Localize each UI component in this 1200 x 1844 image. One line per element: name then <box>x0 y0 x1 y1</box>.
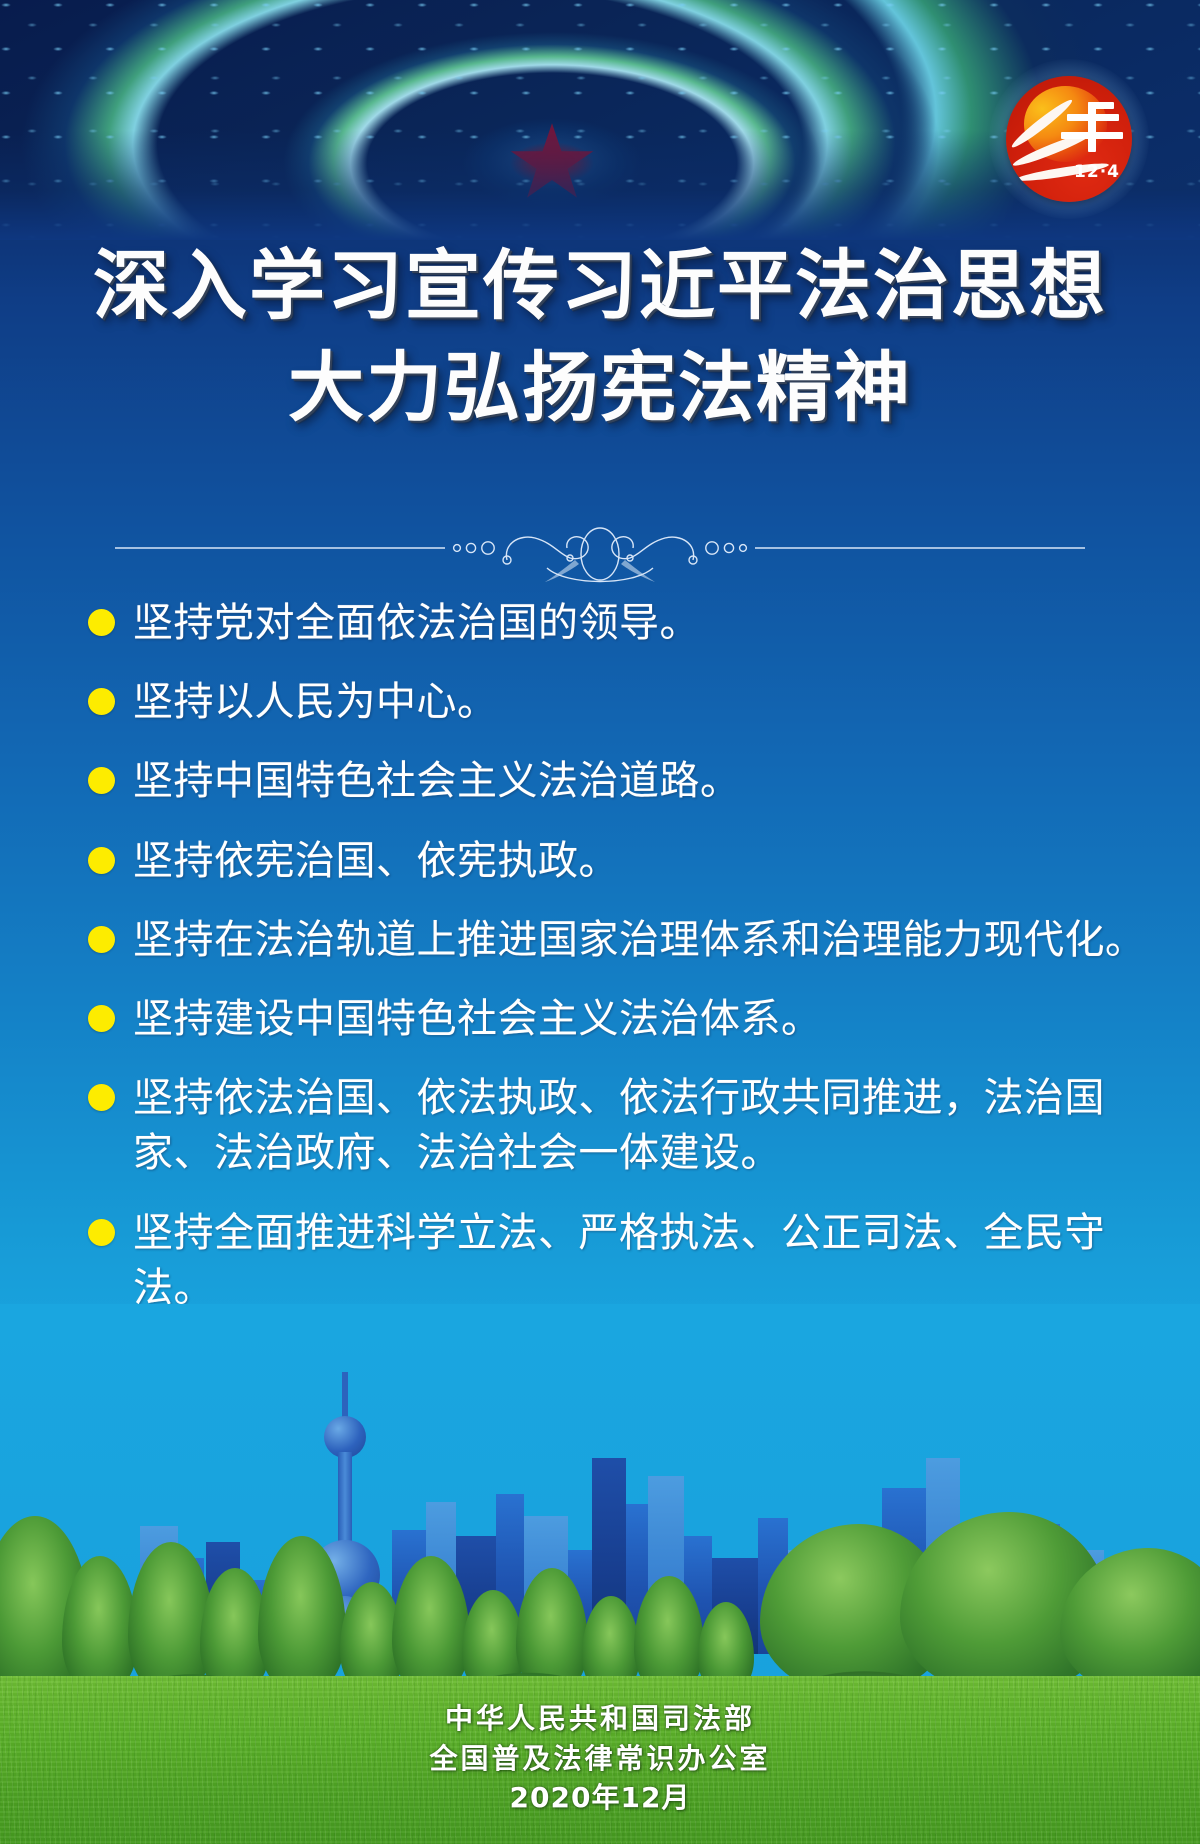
poster-footer: 中华人民共和国司法部 全国普及法律常识办公室 2020年12月 <box>0 1699 1200 1818</box>
bullet-dot-icon <box>88 847 115 874</box>
list-item-label: 坚持全面推进科学立法、严格执法、公正司法、全民守法。 <box>133 1206 1148 1316</box>
ornamental-divider <box>115 524 1085 590</box>
list-item: 坚持以人民为中心。 <box>88 675 1148 730</box>
bullet-dot-icon <box>88 926 115 953</box>
logo-date-label: 12·4 <box>1074 162 1120 182</box>
list-item-label: 坚持依法治国、依法执政、依法行政共同推进，法治国家、法治政府、法治社会一体建设。 <box>133 1071 1148 1181</box>
bullet-dot-icon <box>88 609 115 636</box>
title-line-2: 大力弘扬宪法精神 <box>0 340 1200 436</box>
list-item: 坚持在法治轨道上推进国家治理体系和治理能力现代化。 <box>88 913 1148 968</box>
bullet-dot-icon <box>88 1219 115 1246</box>
list-item: 坚持建设中国特色社会主义法治体系。 <box>88 992 1148 1047</box>
list-item: 坚持依法治国、依法执政、依法行政共同推进，法治国家、法治政府、法治社会一体建设。 <box>88 1071 1148 1181</box>
list-item: 坚持党对全面依法治国的领导。 <box>88 596 1148 651</box>
bullet-dot-icon <box>88 767 115 794</box>
national-legal-publicity-day-logo: 12·4 <box>1006 76 1132 202</box>
logo-disc: 12·4 <box>1006 76 1132 202</box>
list-item-label: 坚持在法治轨道上推进国家治理体系和治理能力现代化。 <box>133 913 1148 968</box>
bullet-dot-icon <box>88 1084 115 1111</box>
list-item-label: 坚持建设中国特色社会主义法治体系。 <box>133 992 1148 1047</box>
list-item: 坚持全面推进科学立法、严格执法、公正司法、全民守法。 <box>88 1206 1148 1316</box>
list-item-label: 坚持依宪治国、依宪执政。 <box>133 834 1148 889</box>
footer-line-3: 2020年12月 <box>0 1778 1200 1818</box>
list-item-label: 坚持以人民为中心。 <box>133 675 1148 730</box>
fa-character-icon <box>1061 102 1123 156</box>
title-line-1: 深入学习宣传习近平法治思想 <box>0 238 1200 334</box>
poster-title: 深入学习宣传习近平法治思想 大力弘扬宪法精神 <box>0 238 1200 436</box>
bullet-dot-icon <box>88 1005 115 1032</box>
list-item-label: 坚持中国特色社会主义法治道路。 <box>133 754 1148 809</box>
list-item-label: 坚持党对全面依法治国的领导。 <box>133 596 1148 651</box>
footer-line-1: 中华人民共和国司法部 <box>0 1699 1200 1739</box>
poster-root: 12·4 深入学习宣传习近平法治思想 大力弘扬宪法精神 <box>0 0 1200 1844</box>
list-item: 坚持中国特色社会主义法治道路。 <box>88 754 1148 809</box>
list-item: 坚持依宪治国、依宪执政。 <box>88 834 1148 889</box>
bullet-dot-icon <box>88 688 115 715</box>
footer-line-2: 全国普及法律常识办公室 <box>0 1739 1200 1779</box>
